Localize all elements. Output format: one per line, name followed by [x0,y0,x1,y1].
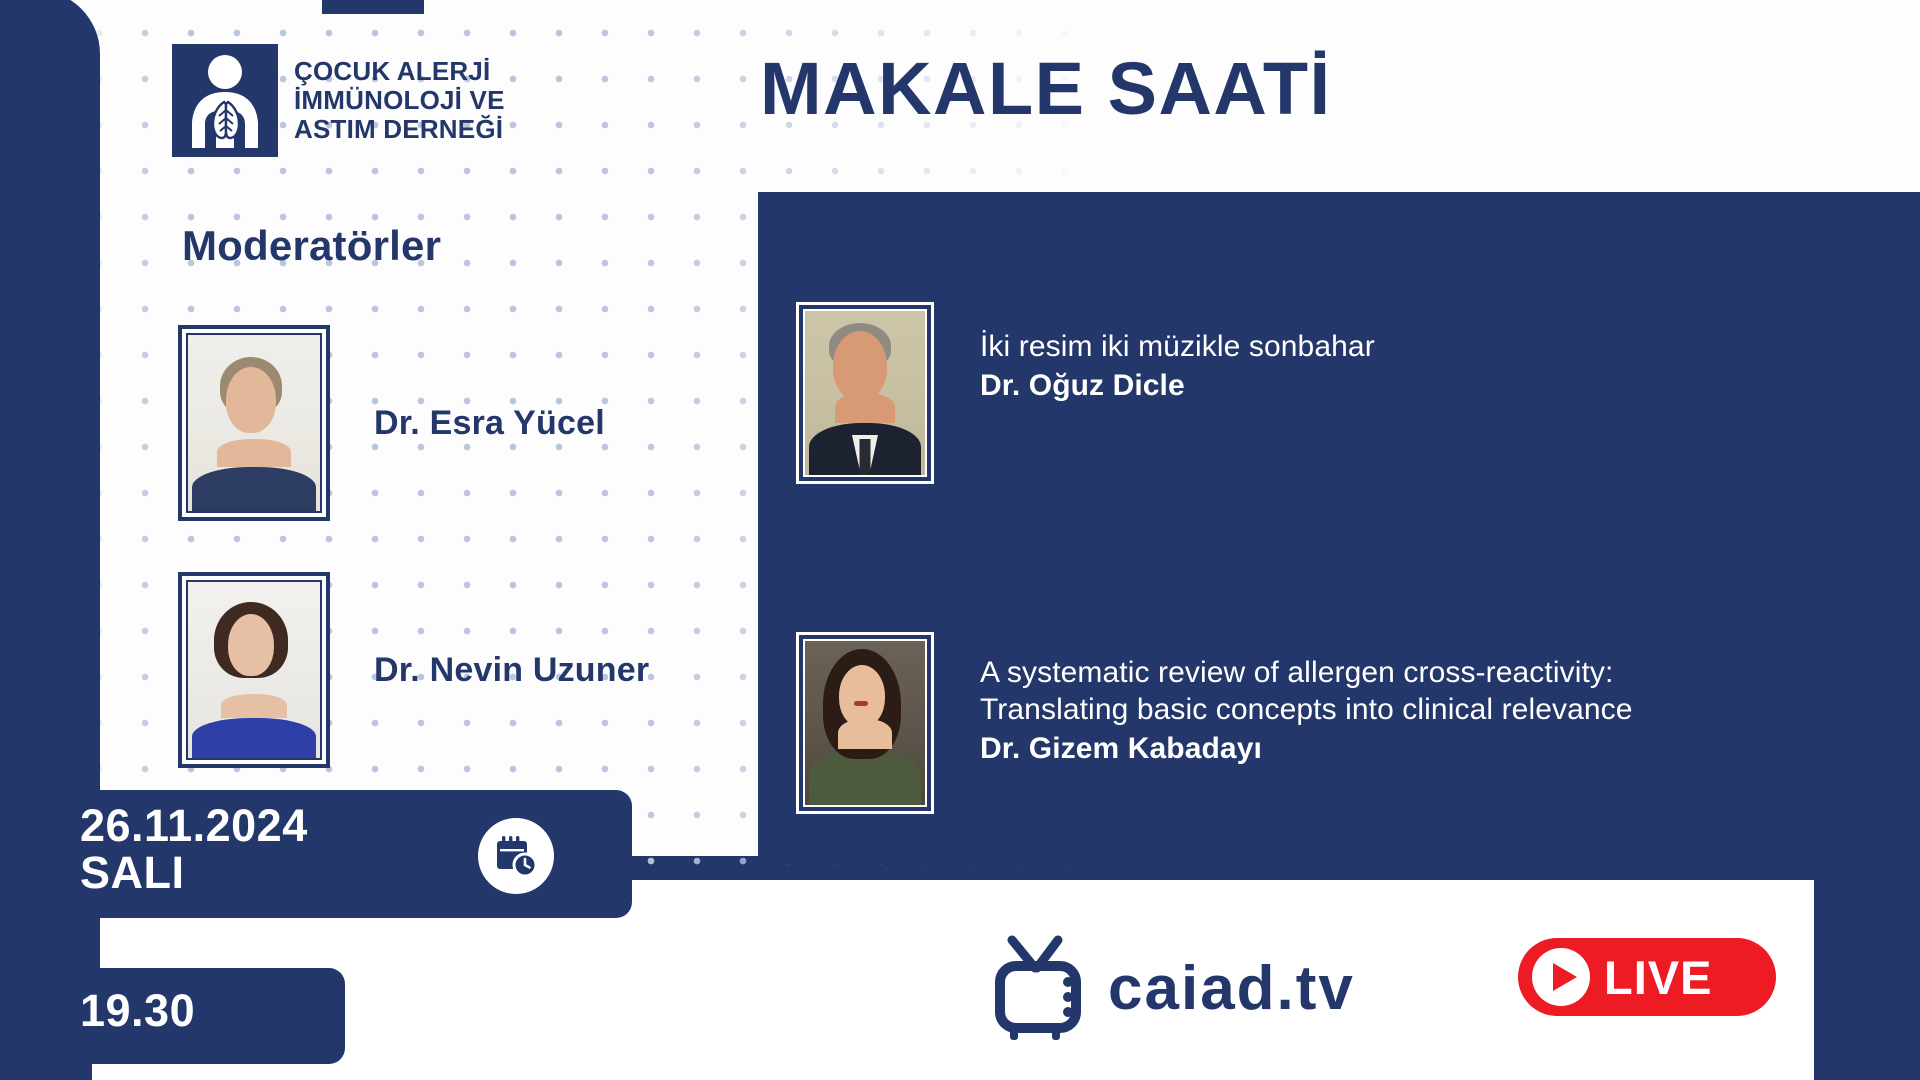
moderator-photo-nevin-uzuner [178,572,330,768]
moderator-row: Dr. Nevin Uzuner [178,572,649,768]
caiad-tv-brand[interactable]: caiad.tv [990,930,1355,1047]
retro-tv-icon [990,930,1094,1047]
program-entry-social: İki resim iki müzikle sonbahar Dr. Oğuz … [796,302,1375,484]
program-entry-title-line1: A systematic review of allergen cross-re… [980,654,1633,691]
play-icon [1532,948,1590,1006]
moderator-name: Dr. Nevin Uzuner [374,651,649,690]
poster-canvas: ÇOCUK ALERJİ İMMÜNOLOJİ VE ASTIM DERNEĞİ… [0,0,1920,1080]
event-day: SALI [80,847,185,898]
program-entry-title-line2: Translating basic concepts into clinical… [980,691,1633,728]
top-navy-tab [322,0,424,14]
program-entry-speaker: A systematic review of allergen cross-re… [796,632,1633,814]
brand-text: caiad.tv [1108,953,1355,1024]
association-logo: ÇOCUK ALERJİ İMMÜNOLOJİ VE ASTIM DERNEĞİ [172,44,505,157]
event-time: 19.30 [80,985,195,1037]
speaker-photo-gizem-kabadayi [796,632,934,814]
logo-line-2: İMMÜNOLOJİ VE [294,85,505,115]
moderator-row: Dr. Esra Yücel [178,325,605,521]
program-entry-text: İki resim iki müzikle sonbahar Dr. Oğuz … [980,302,1375,403]
moderator-photo-esra-yucel [178,325,330,521]
live-badge[interactable]: LIVE [1518,938,1776,1016]
program-entry-title: İki resim iki müzikle sonbahar [980,328,1375,365]
date-text: 26.11.2024 SALI [80,802,308,897]
program-entry-person: Dr. Gizem Kabadayı [980,732,1633,766]
page-title: MAKALE SAATİ [760,46,1332,131]
logo-line-1: ÇOCUK ALERJİ [294,56,490,86]
live-label: LIVE [1604,950,1712,1005]
logo-line-3: ASTIM DERNEĞİ [294,114,503,144]
speaker-photo-oguz-dicle [796,302,934,484]
association-logo-text: ÇOCUK ALERJİ İMMÜNOLOJİ VE ASTIM DERNEĞİ [294,57,505,144]
program-entry-text: A systematic review of allergen cross-re… [980,632,1633,766]
program-entry-person: Dr. Oğuz Dicle [980,369,1375,403]
calendar-clock-icon [478,818,554,894]
moderators-heading: Moderatörler [182,222,441,270]
moderator-name: Dr. Esra Yücel [374,404,605,443]
left-navy-bar [0,0,100,1080]
event-date: 26.11.2024 [80,800,308,851]
child-lungs-logo-icon [172,44,278,157]
